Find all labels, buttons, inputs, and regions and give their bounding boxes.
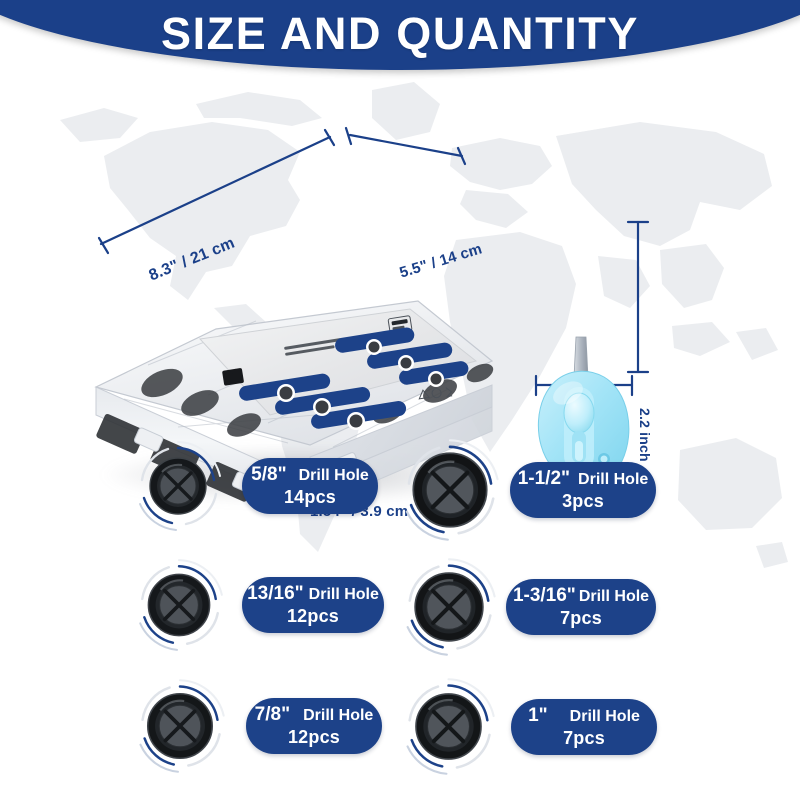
grommet-icon [396,554,502,660]
grommet-quantity: 14pcs [284,487,336,508]
grommet-entry: 1-3/16" Drill Hole 7pcs [396,554,656,660]
grommet-size: 5/8" [251,464,286,486]
header-banner: SIZE AND QUANTITY [0,0,800,70]
grommet-label-pill: 7/8" Drill Hole 12pcs [246,698,382,754]
case-depth-dimension-label: 5.5" / 14 cm [398,240,485,281]
grommet-quantity: 12pcs [287,606,339,627]
grommet-icon [128,674,232,778]
grommet-drill-hole: Drill Hole [579,588,649,606]
grommet-quantity: 12pcs [288,727,340,748]
grommet-quantity: 7pcs [560,608,602,629]
grommet-size: 1-1/2" [518,468,570,490]
grommet-size: 1" [528,705,548,727]
grommet-drill-hole: Drill Hole [303,707,373,725]
grommet-icon [396,674,501,779]
grommet-icon [396,436,504,544]
grommet-icon [128,554,230,656]
grommet-size-grid: 5/8" Drill Hole 14pcs [0,436,800,766]
grommet-entry: 1-1/2" Drill Hole 3pcs [396,436,656,544]
case-width-dimension-label: 8.3" / 21 cm [147,235,238,286]
grommet-drill-hole: Drill Hole [570,708,640,726]
grommet-icon [128,436,228,536]
infographic-canvas: SIZE AND QUANTITY [0,0,800,800]
grommet-entry: 7/8" Drill Hole 12pcs [128,674,382,778]
grommet-size: 1-3/16" [513,585,576,607]
grommet-quantity: 3pcs [562,491,604,512]
grommet-drill-hole: Drill Hole [309,586,379,604]
grommet-label-pill: 1" Drill Hole 7pcs [511,699,657,755]
grommet-quantity: 7pcs [563,728,605,749]
grommet-drill-hole: Drill Hole [299,467,369,485]
page-title: SIZE AND QUANTITY [0,11,800,56]
product-photo-region: 8.3" / 21 cm 5.5" / 14 cm 1.54" / 3.9 cm… [0,110,800,440]
grommet-label-pill: 5/8" Drill Hole 14pcs [242,458,378,514]
grommet-size: 13/16" [247,583,304,605]
grommet-label-pill: 13/16" Drill Hole 12pcs [242,577,384,633]
grommet-drill-hole: Drill Hole [578,471,648,489]
grommet-size: 7/8" [255,704,290,726]
grommet-label-pill: 1-1/2" Drill Hole 3pcs [510,462,656,518]
grommet-entry: 5/8" Drill Hole 14pcs [128,436,378,536]
grommet-entry: 1" Drill Hole 7pcs [396,674,657,779]
grommet-label-pill: 1-3/16" Drill Hole 7pcs [506,579,656,635]
grommet-entry: 13/16" Drill Hole 12pcs [128,554,384,656]
